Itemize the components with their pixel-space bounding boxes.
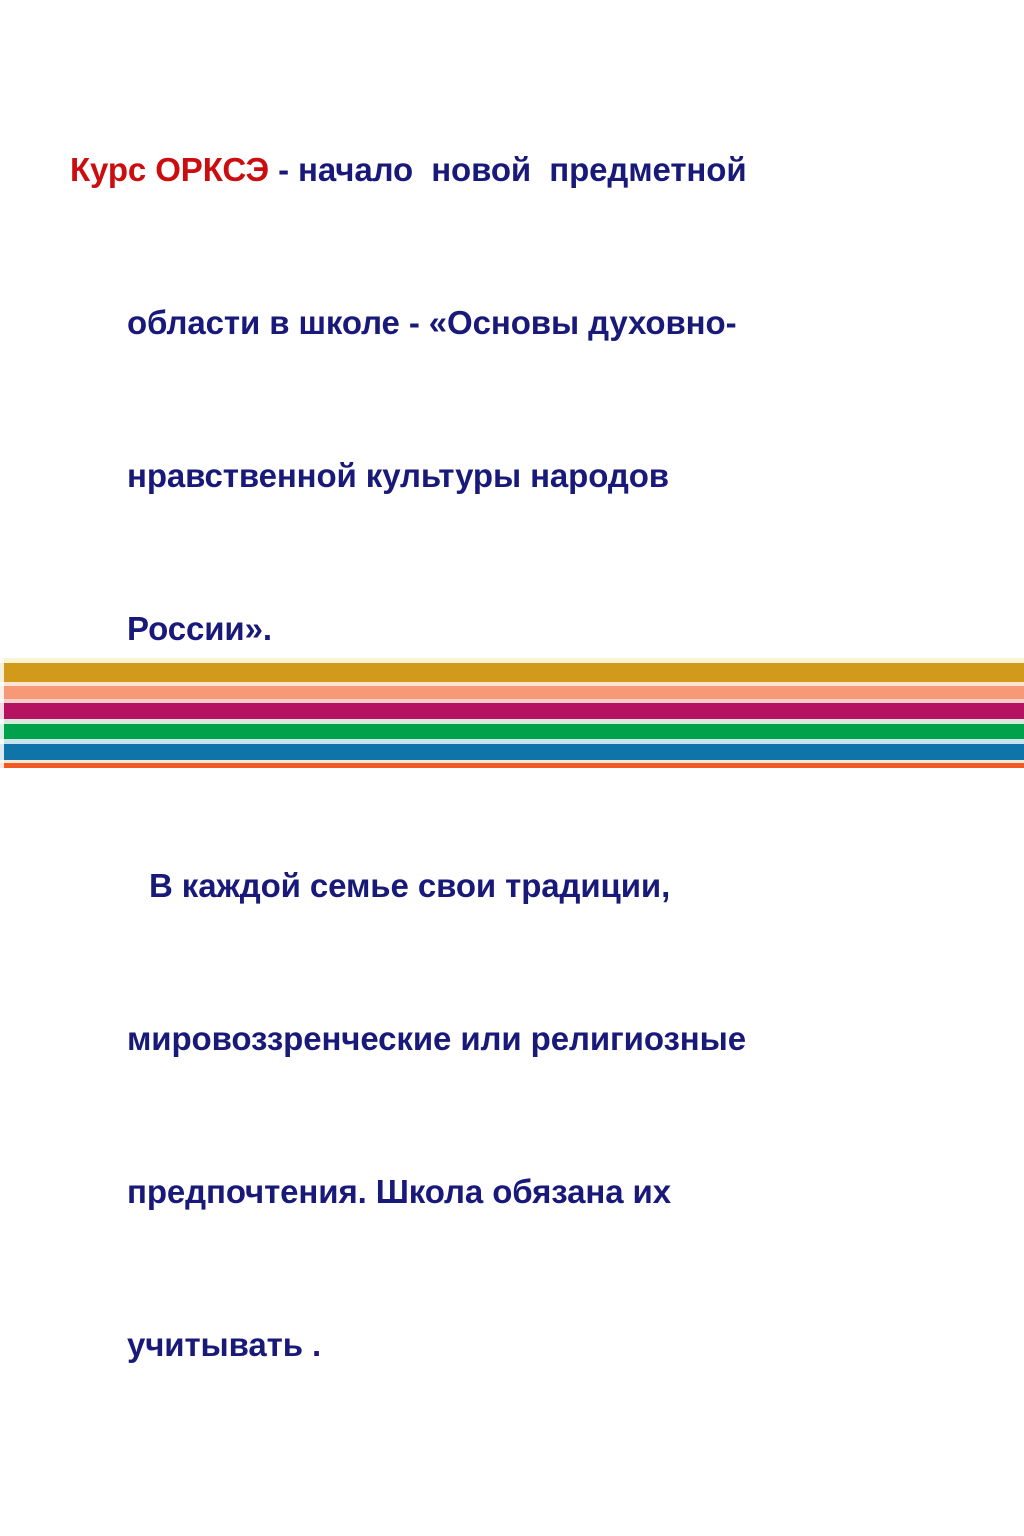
accent-course-title: Курс ОРКСЭ bbox=[70, 151, 269, 188]
paragraph-line: предпочтения. Школа обязана их bbox=[127, 1166, 962, 1217]
salmon-stripe bbox=[0, 686, 1024, 699]
paragraph-line: нравственной культуры народов bbox=[70, 450, 962, 501]
orange-stripe bbox=[0, 763, 1024, 768]
paragraph-core-values: Основные ценности курса: Отечество, семь… bbox=[62, 1475, 962, 1536]
stripe-left-edge-highlight bbox=[0, 658, 4, 768]
paragraph-family-traditions: В каждой семье свои традиции, мировоззре… bbox=[62, 758, 962, 1472]
gold-stripe bbox=[0, 663, 1024, 682]
slide-text-body: Курс ОРКСЭ - начало новой предметной обл… bbox=[62, 42, 962, 1536]
paragraph-line: Курс ОРКСЭ - начало новой предметной bbox=[70, 144, 962, 195]
slide-canvas: Курс ОРКСЭ - начало новой предметной обл… bbox=[0, 0, 1024, 768]
paragraph-line: области в школе - «Основы духовно- bbox=[70, 297, 962, 348]
paragraph-line: мировоззренческие или религиозные bbox=[127, 1013, 962, 1064]
blue-stripe bbox=[0, 744, 1024, 760]
paragraph-line: В каждой семье свои традиции, bbox=[127, 860, 962, 911]
paragraph-line: России». bbox=[70, 603, 962, 654]
bottom-stripe-band bbox=[0, 658, 1024, 768]
green-stripe bbox=[0, 724, 1024, 739]
magenta-stripe bbox=[0, 703, 1024, 719]
paragraph-line-text: - начало новой предметной bbox=[269, 151, 747, 188]
paragraph-line: учитывать . bbox=[127, 1319, 962, 1370]
paragraph-course-intro: Курс ОРКСЭ - начало новой предметной обл… bbox=[62, 42, 962, 756]
